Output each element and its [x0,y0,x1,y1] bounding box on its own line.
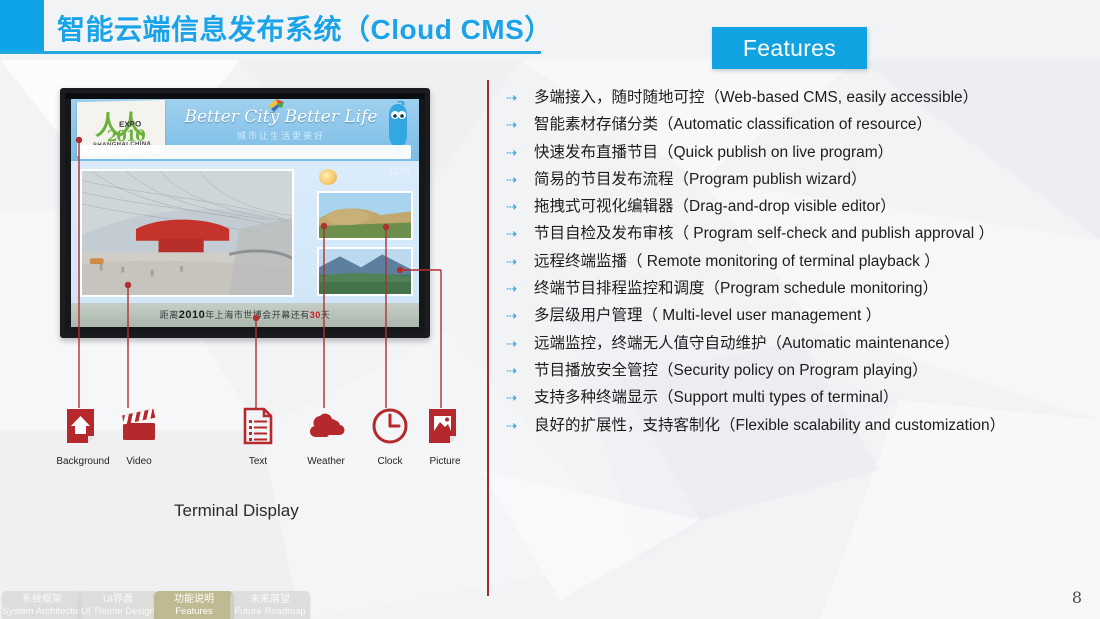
tab-label-cn: 功能说明 [154,591,234,606]
ticker-suffix: 天 [321,310,331,320]
tab-label-cn: 未来展望 [230,591,310,606]
tab-label-en: Features [154,606,234,618]
screen-white-bar [79,145,411,159]
features-list: ⇢ 多端接入，随时随地可控（Web-based CMS, easily acce… [506,86,1098,441]
screen-slogan-cn: 城市让生活更美好 [181,129,381,142]
list-item-label: 多端接入，随时随地可控（Web-based CMS, easily access… [534,86,978,107]
arrow-bullet-icon: ⇢ [506,250,534,268]
list-item: ⇢ 快速发布直播节目（Quick publish on live program… [506,141,1098,168]
terminal-display-photo: 人人 EXPO 2010 SHANGHAI CHINA Better City … [60,88,430,338]
arrow-bullet-icon: ⇢ [506,141,534,159]
icon-label: Clock [362,456,418,467]
weather-icon[interactable] [306,406,346,446]
screen-thumbnail-2 [317,247,413,296]
ticker-year: 2010 [179,309,205,321]
arrow-bullet-icon: ⇢ [506,168,534,186]
arrow-bullet-icon: ⇢ [506,195,534,213]
screen-time: 12:00 [388,167,411,176]
text-icon[interactable] [238,406,278,446]
tv-screen: 人人 EXPO 2010 SHANGHAI CHINA Better City … [71,99,419,327]
list-item: ⇢ 简易的节目发布流程（Program publish wizard） [506,168,1098,195]
ticker-mid: 年上海市世博会开幕还有 [205,310,310,320]
tab-label-en: UI Theme Design [78,606,158,618]
tab-label-en: System Architecture [2,606,82,618]
features-badge: Features [712,27,867,69]
icon-label: Picture [417,456,473,467]
icon-item-text[interactable]: Text [230,406,286,467]
arrow-bullet-icon: ⇢ [506,86,534,104]
screen-banner: 人人 EXPO 2010 SHANGHAI CHINA Better City … [71,99,419,161]
screen-thumbnail-1 [317,191,413,240]
list-item-label: 终端节目排程监控和调度（Program schedule monitoring） [534,277,938,298]
tab-label-cn: 系统框架 [2,591,82,606]
sun-icon [319,169,337,185]
icon-item-clock[interactable]: Clock [362,406,418,467]
background-icon[interactable] [63,406,103,446]
icon-item-background[interactable]: Background [55,406,111,467]
video-icon[interactable] [119,406,159,446]
icon-item-video[interactable]: Video [111,406,167,467]
list-item-label: 远程终端监播（ Remote monitoring of terminal pl… [534,250,940,271]
list-item: ⇢ 多端接入，随时随地可控（Web-based CMS, easily acce… [506,86,1098,113]
screen-date: 2010-05-10 [372,176,411,183]
arrow-bullet-icon: ⇢ [506,304,534,322]
ticker-days: 30 [310,310,321,320]
features-badge-label: Features [743,35,836,62]
vertical-divider [487,80,489,596]
list-item: ⇢ 远端监控，终端无人值守自动维护（Automatic maintenance） [506,332,1098,359]
screen-ticker-text: 距离2010年上海市世博会开幕还有30天 [71,308,419,321]
screen-slogan-en: Better City Better Life [181,107,381,127]
icon-item-weather[interactable]: Weather [298,406,354,467]
screen-weather-widget: 12:00 2010-05-10 [317,167,413,189]
tab-future-roadmap[interactable]: 未来展望 Future Roadmap [230,591,310,619]
tab-system-architecture[interactable]: 系统框架 System Architecture [2,591,82,619]
icon-item-picture[interactable]: Picture [417,406,473,467]
list-item: ⇢ 远程终端监播（ Remote monitoring of terminal … [506,250,1098,277]
list-item-label: 节目自检及发布审核（ Program self-check and publis… [534,222,994,243]
list-item: ⇢ 良好的扩展性，支持客制化（Flexible scalability and … [506,414,1098,441]
list-item: ⇢ 支持多种终端显示（Support multi types of termin… [506,386,1098,413]
icon-label: Weather [298,456,354,467]
list-item-label: 远端监控，终端无人值守自动维护（Automatic maintenance） [534,332,959,353]
content-type-icons: Background Video [55,406,475,478]
list-item-label: 简易的节目发布流程（Program publish wizard） [534,168,866,189]
list-item-label: 良好的扩展性，支持客制化（Flexible scalability and cu… [534,414,1005,435]
list-item: ⇢ 终端节目排程监控和调度（Program schedule monitorin… [506,277,1098,304]
arrow-bullet-icon: ⇢ [506,332,534,350]
screen-main-image [80,169,294,297]
list-item-label: 多层级用户管理（ Multi-level user management ） [534,304,881,325]
list-item: ⇢ 拖拽式可视化编辑器（Drag-and-drop visible editor… [506,195,1098,222]
page-number: 8 [1072,588,1082,607]
picture-icon[interactable] [425,406,465,446]
header-accent-block [0,0,44,51]
clock-icon[interactable] [370,406,410,446]
list-item: ⇢ 节目播放安全管控（Security policy on Program pl… [506,359,1098,386]
arrow-bullet-icon: ⇢ [506,359,534,377]
list-item-label: 节目播放安全管控（Security policy on Program play… [534,359,928,380]
arrow-bullet-icon: ⇢ [506,222,534,240]
terminal-display-caption: Terminal Display [174,501,299,521]
arrow-bullet-icon: ⇢ [506,277,534,295]
icon-label: Text [230,456,286,467]
screen-ticker: 距离2010年上海市世博会开幕还有30天 [71,303,419,327]
list-item-label: 快速发布直播节目（Quick publish on live program） [534,141,893,162]
tab-label-en: Future Roadmap [230,606,310,618]
arrow-bullet-icon: ⇢ [506,113,534,131]
arrow-bullet-icon: ⇢ [506,386,534,404]
icon-label: Video [111,456,167,467]
list-item: ⇢ 节目自检及发布审核（ Program self-check and publ… [506,222,1098,249]
arrow-bullet-icon: ⇢ [506,414,534,432]
header-underline [0,51,541,54]
icon-label: Background [55,456,111,467]
list-item: ⇢ 多层级用户管理（ Multi-level user management ） [506,304,1098,331]
list-item: ⇢ 智能素材存储分类（Automatic classification of r… [506,113,1098,140]
tab-features[interactable]: 功能说明 Features [154,591,234,619]
tab-label-cn: UI界面 [78,591,158,606]
list-item-label: 支持多种终端显示（Support multi types of terminal… [534,386,898,407]
list-item-label: 智能素材存储分类（Automatic classification of res… [534,113,932,134]
tab-ui-theme-design[interactable]: UI界面 UI Theme Design [78,591,158,619]
slide: 智能云端信息发布系统（Cloud CMS） Features ⇢ 多端接入，随时… [0,0,1100,619]
ticker-prefix: 距离 [160,310,179,320]
page-title: 智能云端信息发布系统（Cloud CMS） [57,8,553,48]
list-item-label: 拖拽式可视化编辑器（Drag-and-drop visible editor） [534,195,896,216]
